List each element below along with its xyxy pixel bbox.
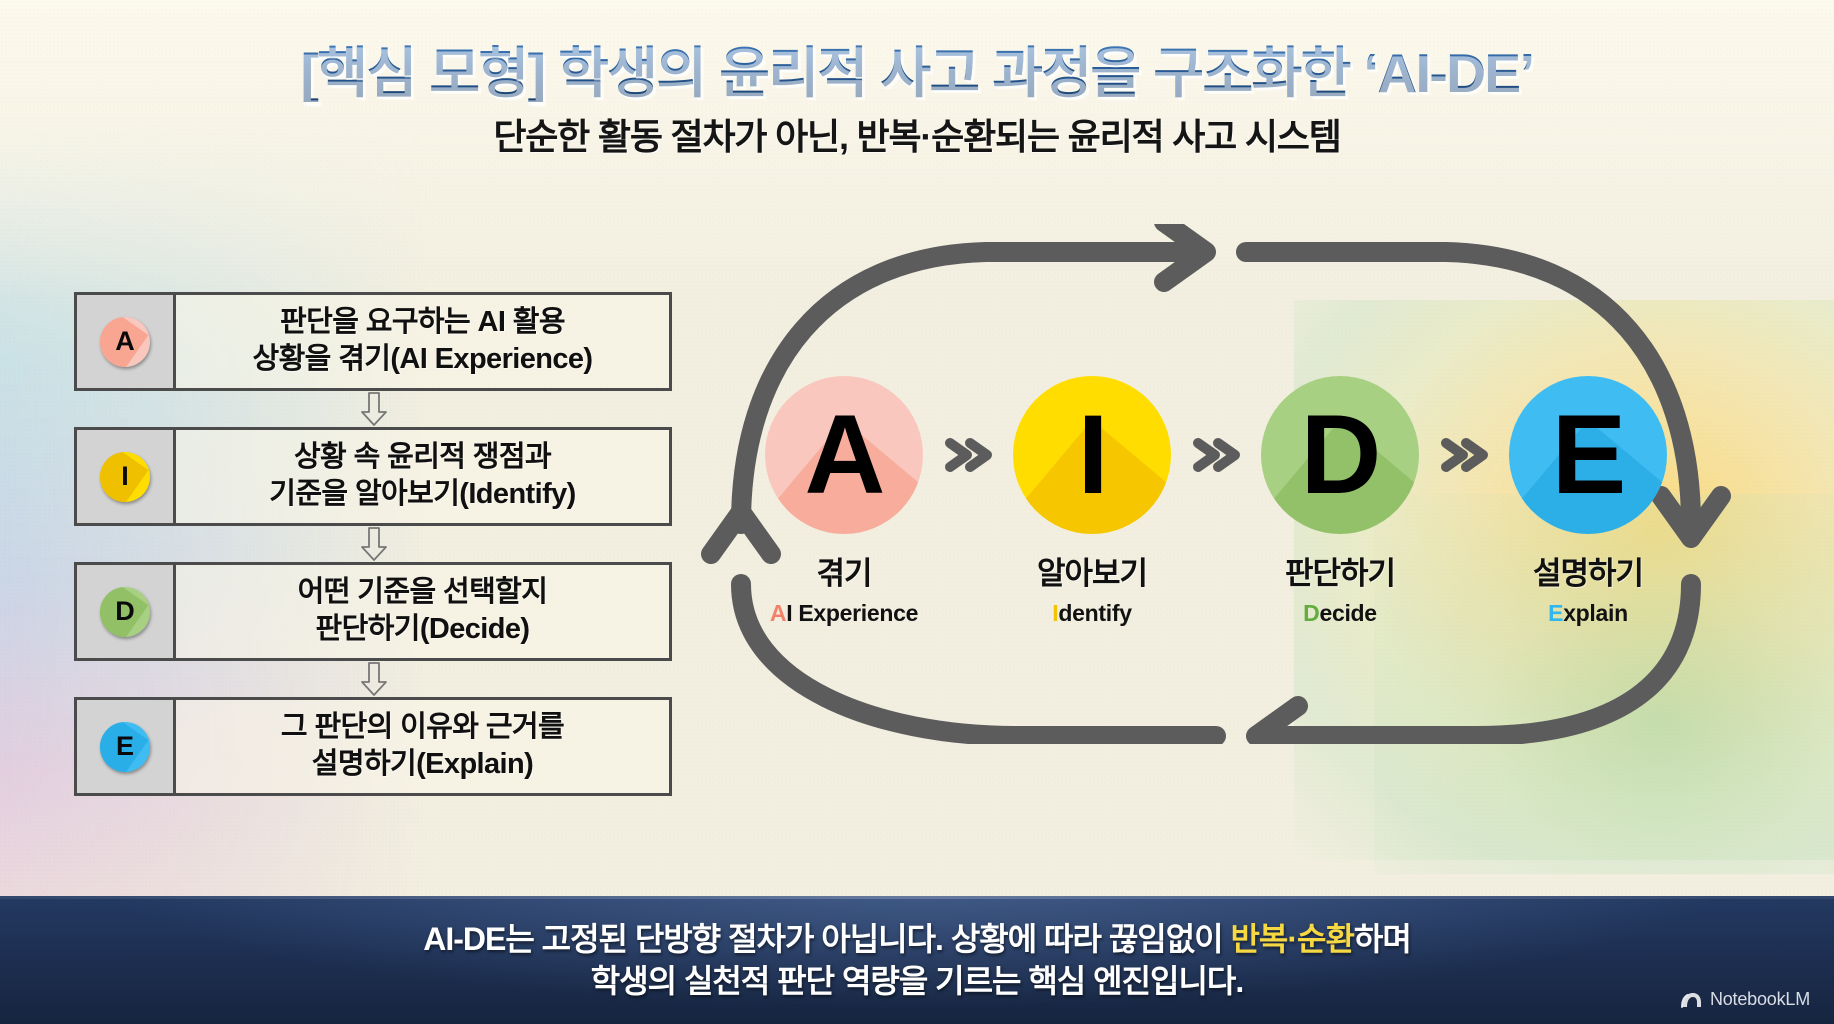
step-badge-cell-e: E bbox=[77, 700, 176, 793]
cycle-node-a: A 겪기 AI Experience bbox=[751, 376, 937, 627]
notebooklm-brand-label: NotebookLM bbox=[1710, 989, 1810, 1010]
cycle-node-label-en: AI Experience bbox=[770, 600, 918, 627]
cycle-node-label-ko: 겪기 bbox=[816, 548, 871, 593]
cycle-node-d: D 판단하기 Decide bbox=[1247, 376, 1433, 627]
step-list: A 판단을 요구하는 AI 활용 상황을 겪기(AI Experience) I bbox=[74, 292, 674, 796]
step-text-e: 그 판단의 이유와 근거를 설명하기(Explain) bbox=[176, 700, 669, 793]
cycle-node-label-en: Identify bbox=[1052, 600, 1131, 627]
notebooklm-brand: NotebookLM bbox=[1680, 989, 1810, 1010]
step-row-e: E 그 판단의 이유와 근거를 설명하기(Explain) bbox=[74, 697, 672, 796]
step-badge-cell-i: I bbox=[77, 430, 176, 523]
cycle-disc-e: E bbox=[1509, 376, 1667, 534]
chevron-2 bbox=[1185, 376, 1247, 534]
step-badge-letter: E bbox=[116, 731, 134, 762]
cycle-node-label-en: Explain bbox=[1548, 600, 1628, 627]
page-title-wrap: [핵심 모형] 학생의 윤리적 사고 과정을 구조화한 ‘AI-DE’ [핵심 … bbox=[301, 44, 1534, 102]
step-badge-letter: D bbox=[115, 596, 135, 627]
chevron-3 bbox=[1433, 376, 1495, 534]
step-connector-arrow-2 bbox=[74, 526, 674, 562]
step-line-2: 설명하기(Explain) bbox=[190, 746, 655, 783]
cycle-disc-d: D bbox=[1261, 376, 1419, 534]
step-line-1: 그 판단의 이유와 근거를 bbox=[190, 709, 655, 746]
cycle-node-label-ko: 판단하기 bbox=[1285, 548, 1395, 593]
step-row-i: I 상황 속 윤리적 쟁점과 기준을 알아보기(Identify) bbox=[74, 427, 672, 526]
cycle-disc-a: A bbox=[765, 376, 923, 534]
step-connector-arrow-3 bbox=[74, 661, 674, 697]
cycle-disc-letter: D bbox=[1301, 399, 1380, 511]
cycle-node-e: E 설명하기 Explain bbox=[1495, 376, 1681, 627]
step-badge-d: D bbox=[100, 587, 150, 637]
bottom-banner: AI-DE는 고정된 단방향 절차가 아닙니다. 상황에 따라 끊임없이 반복·… bbox=[0, 896, 1834, 1024]
cycle-disc-letter: E bbox=[1552, 399, 1625, 511]
banner-line-1: AI-DE는 고정된 단방향 절차가 아닙니다. 상황에 따라 끊임없이 반복·… bbox=[423, 918, 1411, 960]
cycle-disc-letter: I bbox=[1077, 399, 1106, 511]
banner-line-1-highlight: 반복·순환 bbox=[1230, 921, 1353, 957]
step-row-d: D 어떤 기준을 선택할지 판단하기(Decide) bbox=[74, 562, 672, 661]
double-chevron-right-icon bbox=[1190, 434, 1242, 476]
cycle-disc-i: I bbox=[1013, 376, 1171, 534]
step-line-1: 판단을 요구하는 AI 활용 bbox=[190, 304, 655, 341]
double-chevron-right-icon bbox=[1438, 434, 1490, 476]
step-line-2: 판단하기(Decide) bbox=[190, 611, 655, 648]
cycle-diagram: A 겪기 AI Experience I 알아보기 bbox=[686, 224, 1746, 744]
slide-canvas: [핵심 모형] 학생의 윤리적 사고 과정을 구조화한 ‘AI-DE’ [핵심 … bbox=[0, 0, 1834, 1024]
banner-line-2: 학생의 실천적 판단 역량을 기르는 핵심 엔진입니다. bbox=[591, 960, 1243, 1002]
banner-line-1-pre: AI-DE는 고정된 단방향 절차가 아닙니다. 상황에 따라 끊임없이 bbox=[423, 921, 1230, 957]
step-line-2: 기준을 알아보기(Identify) bbox=[190, 476, 655, 513]
page-subtitle: 단순한 활동 절차가 아닌, 반복·순환되는 윤리적 사고 시스템 bbox=[0, 108, 1834, 160]
cycle-node-en-first: A bbox=[770, 600, 786, 626]
step-text-d: 어떤 기준을 선택할지 판단하기(Decide) bbox=[176, 565, 669, 658]
cycle-node-en-rest: dentify bbox=[1058, 600, 1131, 626]
cycle-node-en-first: E bbox=[1548, 600, 1563, 626]
page-title: [핵심 모형] 학생의 윤리적 사고 과정을 구조화한 ‘AI-DE’ bbox=[301, 44, 1534, 102]
cycle-node-i: I 알아보기 Identify bbox=[999, 376, 1185, 627]
step-badge-cell-d: D bbox=[77, 565, 176, 658]
notebooklm-logo-icon bbox=[1680, 991, 1702, 1009]
step-row-a: A 판단을 요구하는 AI 활용 상황을 겪기(AI Experience) bbox=[74, 292, 672, 391]
step-badge-letter: I bbox=[121, 461, 129, 492]
cycle-node-row: A 겪기 AI Experience I 알아보기 bbox=[686, 224, 1746, 744]
chevron-1 bbox=[937, 376, 999, 534]
step-badge-letter: A bbox=[115, 326, 135, 357]
step-line-2: 상황을 겪기(AI Experience) bbox=[190, 341, 655, 378]
cycle-node-en-rest: ecide bbox=[1319, 600, 1376, 626]
cycle-node-label-en: Decide bbox=[1303, 600, 1377, 627]
step-line-1: 상황 속 윤리적 쟁점과 bbox=[190, 439, 655, 476]
banner-line-1-post: 하며 bbox=[1354, 921, 1411, 957]
step-text-a: 판단을 요구하는 AI 활용 상황을 겪기(AI Experience) bbox=[176, 295, 669, 388]
cycle-node-en-rest: I Experience bbox=[786, 600, 918, 626]
step-connector-arrow-1 bbox=[74, 391, 674, 427]
step-badge-a: A bbox=[100, 317, 150, 367]
cycle-node-en-rest: xplain bbox=[1563, 600, 1628, 626]
cycle-disc-letter: A bbox=[805, 399, 884, 511]
cycle-node-label-ko: 알아보기 bbox=[1037, 548, 1147, 593]
cycle-node-label-ko: 설명하기 bbox=[1533, 548, 1643, 593]
step-text-i: 상황 속 윤리적 쟁점과 기준을 알아보기(Identify) bbox=[176, 430, 669, 523]
double-chevron-right-icon bbox=[942, 434, 994, 476]
step-badge-e: E bbox=[100, 722, 150, 772]
cycle-node-en-first: D bbox=[1303, 600, 1319, 626]
step-line-1: 어떤 기준을 선택할지 bbox=[190, 574, 655, 611]
step-badge-cell-a: A bbox=[77, 295, 176, 388]
header: [핵심 모형] 학생의 윤리적 사고 과정을 구조화한 ‘AI-DE’ [핵심 … bbox=[0, 44, 1834, 160]
step-badge-i: I bbox=[100, 452, 150, 502]
